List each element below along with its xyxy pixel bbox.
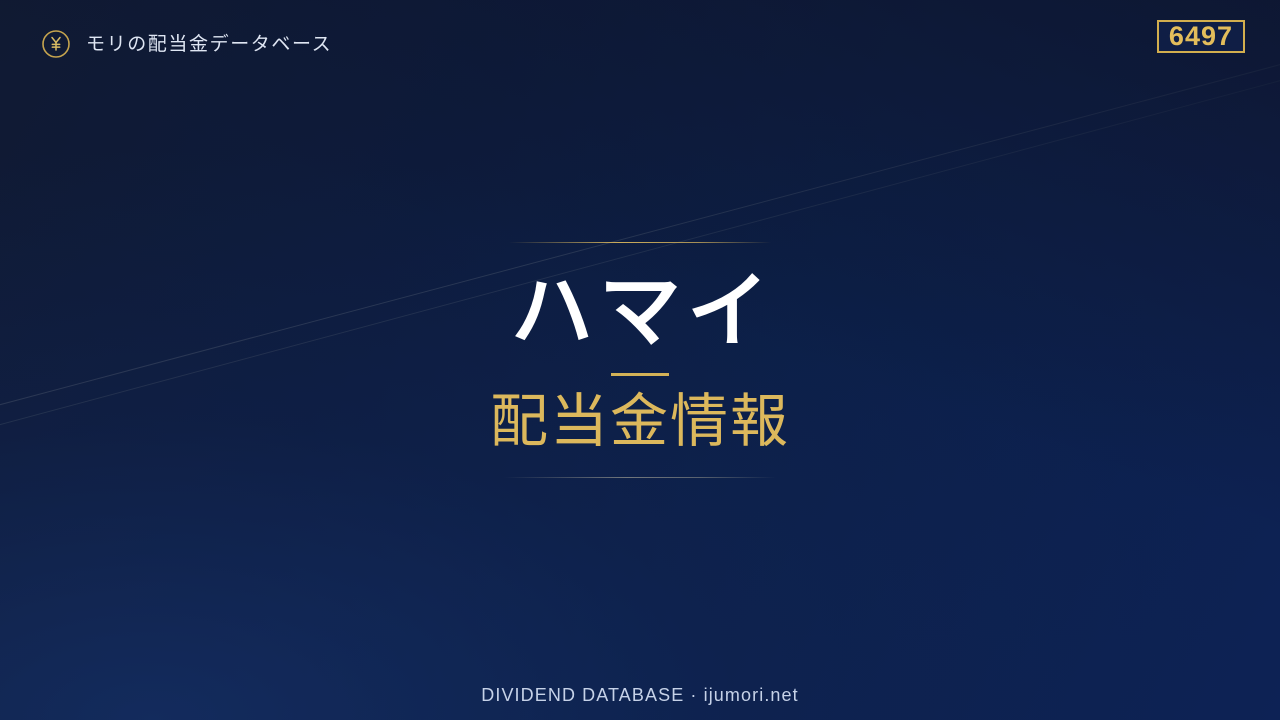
stock-code-badge[interactable]: 6497 — [1157, 20, 1245, 53]
page-header: モリの配当金データベース 6497 — [0, 0, 1280, 90]
divider-top — [509, 242, 771, 243]
divider-bottom — [504, 477, 776, 478]
brand-logo[interactable]: モリの配当金データベース — [40, 28, 332, 60]
page-footer: DIVIDEND DATABASE · ijumori.net — [0, 685, 1280, 706]
title-block: ハマイ 配当金情報 — [0, 0, 1280, 720]
yen-circle-icon — [40, 28, 72, 60]
stock-code-value: 6497 — [1169, 23, 1233, 50]
brand-title: モリの配当金データベース — [86, 35, 332, 54]
footer-text: DIVIDEND DATABASE · ijumori.net — [481, 685, 799, 705]
page-subtitle: 配当金情報 — [490, 392, 790, 453]
title-card: モリの配当金データベース 6497 ハマイ 配当金情報 DIVIDEND DAT… — [0, 0, 1280, 720]
company-name: ハマイ — [505, 271, 775, 353]
divider-middle — [611, 373, 669, 376]
